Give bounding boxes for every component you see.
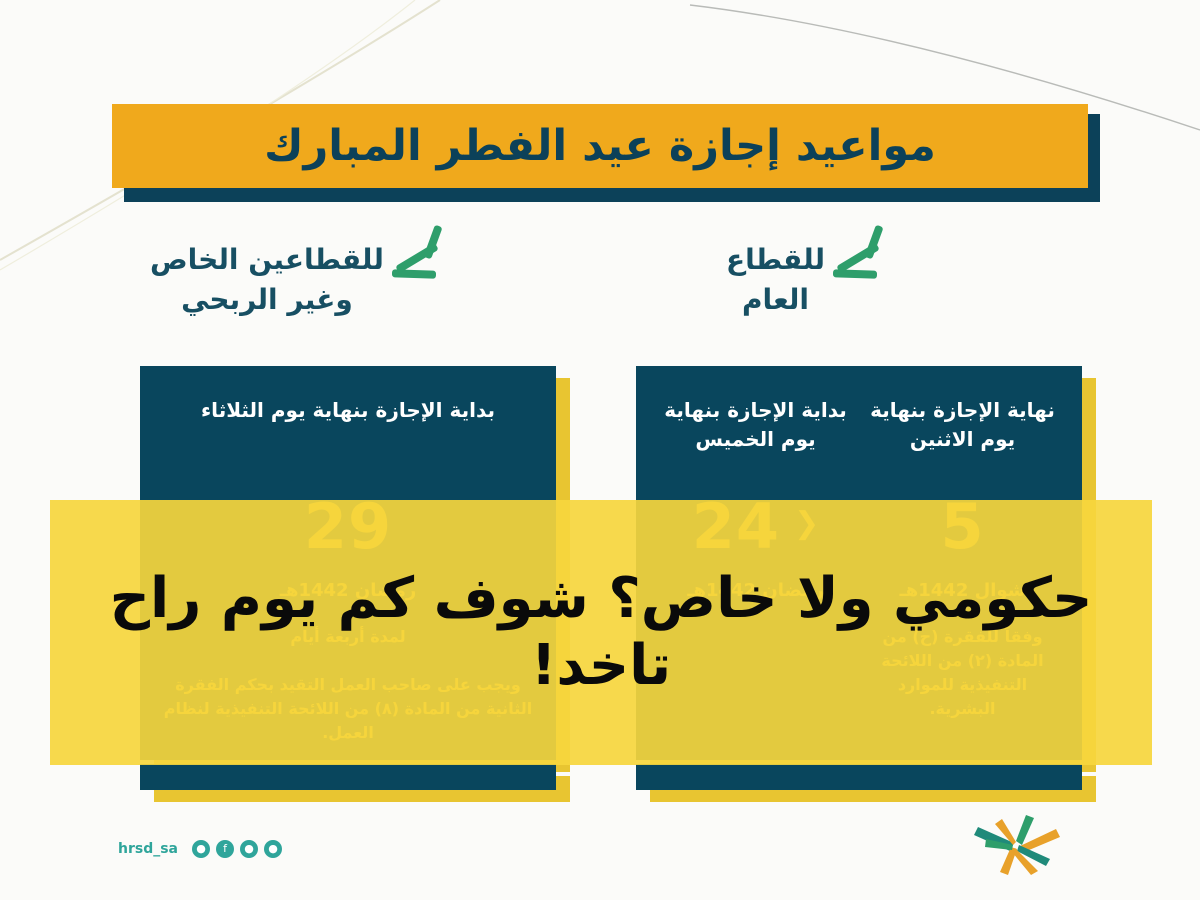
title-banner-fill: مواعيد إجازة عيد الفطر المبارك xyxy=(112,104,1088,188)
footer-social-row: ● ● f ● hrsd_sa xyxy=(118,840,282,858)
green-dashes-icon xyxy=(831,240,893,302)
column-heading: بداية الإجازة بنهاية يوم الثلاثاء xyxy=(201,396,495,490)
promo-overlay-banner: حكومي ولا خاص؟ شوف كم يوم راح تاخد! xyxy=(50,500,1152,765)
facebook-icon[interactable]: f xyxy=(216,840,234,858)
card-footer-bar xyxy=(140,764,556,790)
youtube-icon[interactable]: ● xyxy=(192,840,210,858)
column-heading: نهاية الإجازة بنهاية يوم الاثنين xyxy=(861,396,1064,490)
section-heading-private: للقطاعين الخاصوغير الربحي xyxy=(150,240,452,320)
section-heading-public: للقطاعالعام xyxy=(726,240,893,320)
promo-line-1: حكومي ولا خاص؟ شوف كم يوم راح xyxy=(110,566,1093,631)
hrsd-palm-logo xyxy=(968,812,1064,878)
green-dashes-icon xyxy=(390,240,452,302)
page-title-banner: مواعيد إجازة عيد الفطر المبارك xyxy=(112,104,1088,192)
section-label-public: للقطاعالعام xyxy=(726,240,825,320)
infographic-canvas: مواعيد إجازة عيد الفطر المبارك للقطاعين … xyxy=(0,0,1200,900)
instagram-icon[interactable]: ● xyxy=(240,840,258,858)
promo-overlay-text: حكومي ولا خاص؟ شوف كم يوم راح تاخد! xyxy=(50,566,1152,698)
promo-line-2: تاخد! xyxy=(531,633,671,698)
column-heading: بداية الإجازة بنهاية يوم الخميس xyxy=(654,396,857,490)
card-footer-bar xyxy=(636,764,1082,790)
twitter-icon[interactable]: ● xyxy=(264,840,282,858)
page-title: مواعيد إجازة عيد الفطر المبارك xyxy=(264,121,936,171)
social-handle: hrsd_sa xyxy=(118,841,178,857)
section-label-private: للقطاعين الخاصوغير الربحي xyxy=(150,240,384,320)
